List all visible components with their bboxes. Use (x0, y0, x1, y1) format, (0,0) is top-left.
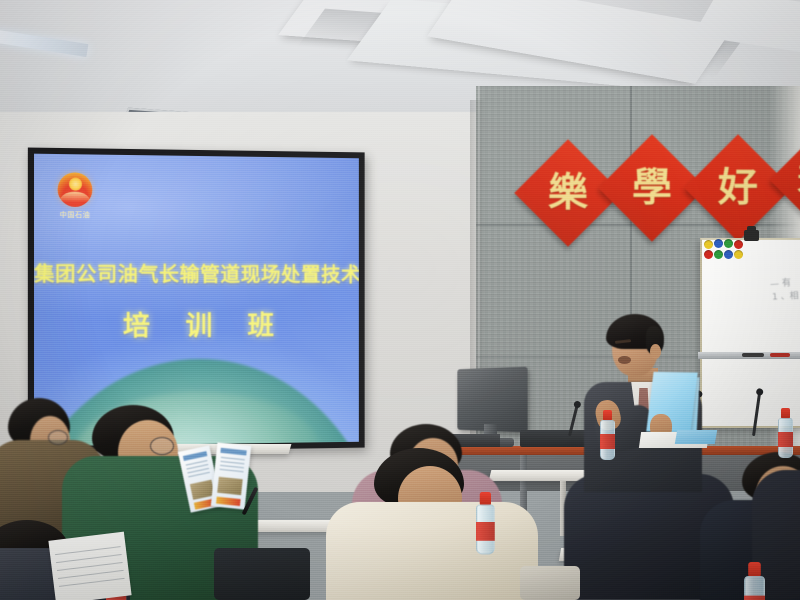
whiteboard-clip-icon (744, 230, 759, 241)
slide-logo: 中国石油 (52, 172, 97, 220)
podium-papers-blue (675, 430, 717, 444)
slide-subtitle: 培 训 班 (34, 304, 359, 344)
attendee-green-glasses-icon (150, 437, 174, 455)
slide-logo-text: 中国石油 (52, 210, 97, 220)
whiteboard-note-line-1: — 有 (770, 275, 792, 289)
banner-character-1: 樂 (548, 173, 588, 213)
slide-globe-halo (34, 329, 359, 446)
chair-1 (214, 548, 310, 600)
banner-character-3: 好 (718, 168, 758, 208)
speaker-ear (650, 344, 661, 359)
projected-slide: 中国石油 集团公司油气长输管道现场处置技术 培 训 班 (34, 154, 359, 447)
chair-2 (520, 566, 580, 600)
cnpc-sun-logo-icon (58, 172, 93, 207)
attendee-glasses-icon (48, 430, 68, 445)
whiteboard (700, 238, 800, 428)
booklet-right-page[interactable] (211, 442, 252, 509)
slide-title: 集团公司油气长输管道现场处置技术 (34, 257, 359, 287)
banner-character-2: 學 (632, 168, 672, 208)
magnet-green (724, 239, 733, 248)
magnet-red (734, 240, 743, 249)
ceiling-light-fixture-1 (0, 28, 88, 57)
classroom-photo-scene: 樂 學 好 天 中国石油 集团公司油气长输管道现场处置技术 培 训 班 — 有 … (0, 0, 800, 600)
magnet-blue (714, 239, 723, 248)
magnet-blue-2 (724, 250, 733, 259)
speaker-mouth (618, 356, 631, 364)
magnet-yellow-2 (734, 250, 743, 259)
lcd-monitor[interactable] (457, 367, 527, 433)
magnet-yellow (704, 240, 713, 249)
magnet-green-2 (714, 250, 723, 259)
whiteboard-marker-red (770, 353, 790, 357)
magnet-red-2 (704, 250, 713, 259)
handout-papers-foreground[interactable] (48, 532, 131, 600)
attendee-cream-torso (326, 502, 538, 600)
whiteboard-marker-black (742, 353, 764, 357)
projection-screen: 中国石油 集团公司油气长输管道现场处置技术 培 训 班 (28, 148, 365, 453)
whiteboard-note-line-2: 1 、相 (772, 288, 799, 302)
